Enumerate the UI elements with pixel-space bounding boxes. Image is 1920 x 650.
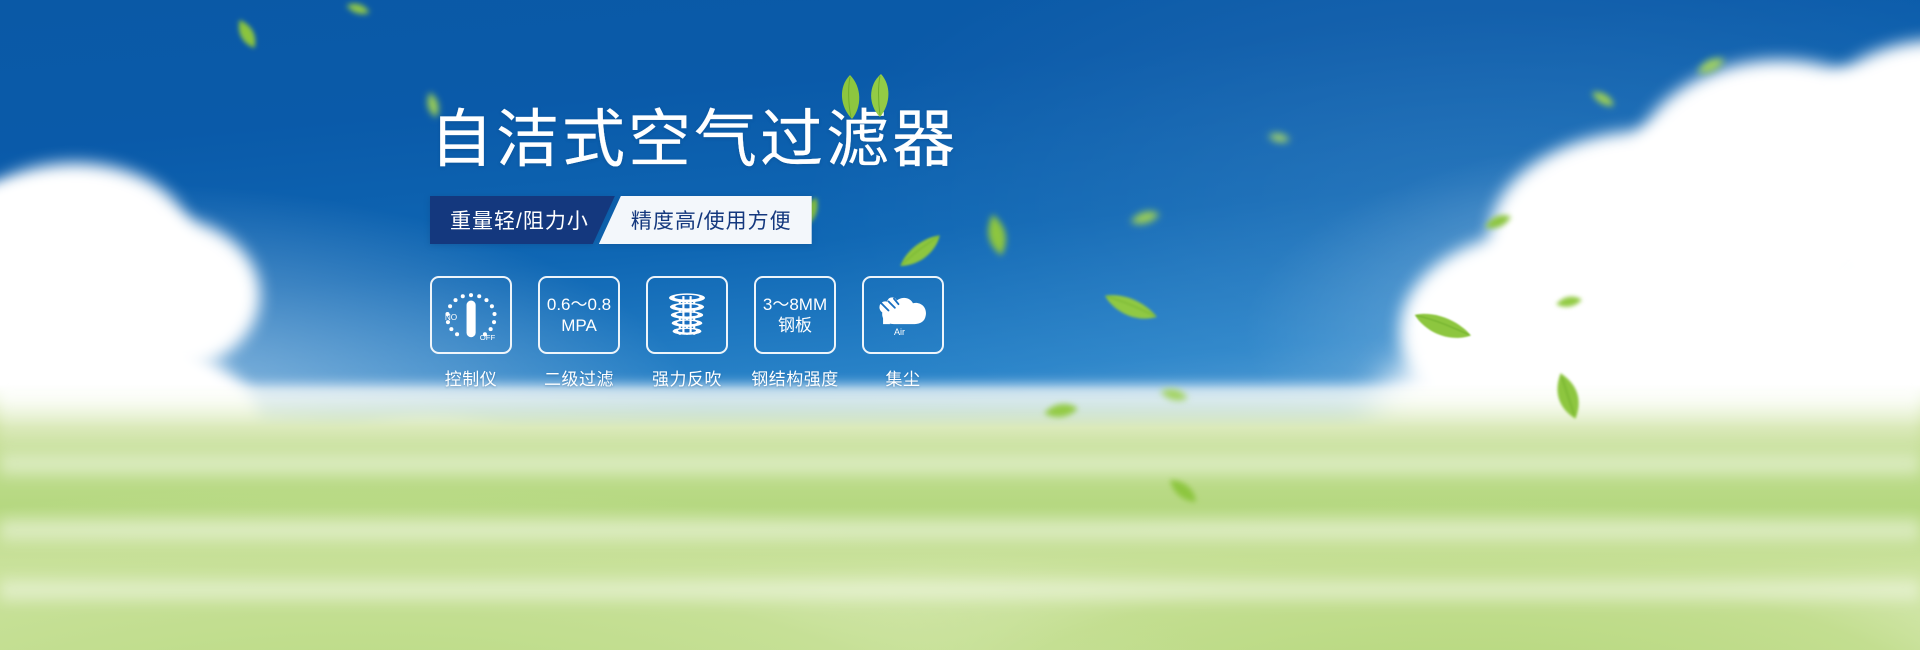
grass-field: [0, 385, 1920, 650]
feature-item[interactable]: 0.6～0.8 MPA 二级过滤: [538, 276, 620, 390]
gauge-dial-icon: NO OFF: [430, 276, 512, 354]
feature-caption: 集尘: [886, 365, 921, 390]
leaf-icon: [1587, 84, 1619, 113]
leaf-icon: [1555, 292, 1583, 312]
feature-caption: 二级过滤: [544, 365, 614, 390]
feature-item[interactable]: 强力反吹: [646, 276, 728, 390]
feature-icon-row: NO OFF 控制仪 0.6～0.8 MPA 二级过滤: [430, 276, 1190, 390]
feature-item[interactable]: NO OFF 控制仪: [430, 276, 512, 390]
svg-text:OFF: OFF: [480, 333, 496, 342]
air-cloud-icon: Air: [862, 276, 944, 354]
grass-light-streak-3: [0, 573, 1920, 607]
tagline-badge-secondary: 精度高/使用方便: [599, 196, 812, 244]
leaf-icon: [1408, 299, 1477, 354]
leaf-icon: [1693, 50, 1729, 81]
leaf-icon: [344, 0, 372, 21]
tagline-badge-primary: 重量轻/阻力小: [430, 196, 615, 244]
pressure-text-icon: 0.6～0.8 MPA: [538, 276, 620, 354]
tagline-badges: 重量轻/阻力小 精度高/使用方便: [430, 196, 823, 244]
leaf-icon: [1267, 128, 1292, 148]
feature-caption: 强力反吹: [652, 365, 722, 390]
leaf-icon: [1481, 207, 1514, 236]
page-title: 自洁式空气过滤器: [430, 105, 1190, 175]
steel-plate-text-icon: 3～8MM 钢板: [754, 276, 836, 354]
air-label: Air: [894, 327, 905, 337]
feature-item[interactable]: Air 集尘: [862, 276, 944, 390]
banner-content: 自洁式空气过滤器 重量轻/阻力小 精度高/使用方便: [430, 105, 1190, 390]
feature-item[interactable]: 3～8MM 钢板 钢结构强度: [754, 276, 836, 390]
feature-caption: 钢结构强度: [751, 365, 839, 390]
feature-text-line2: 钢板: [778, 315, 812, 336]
feature-text-line1: 3～8MM: [763, 294, 827, 315]
title-row: 自洁式空气过滤器: [430, 105, 1190, 181]
leaf-icon: [230, 15, 264, 54]
filter-stack-icon: [646, 276, 728, 354]
feature-text-line1: 0.6～0.8: [547, 294, 611, 315]
feature-text-line2: MPA: [561, 315, 597, 336]
feature-caption: 控制仪: [445, 365, 498, 390]
grass-horizon-haze: [0, 385, 1920, 455]
grass-hill-shading: [0, 400, 1920, 650]
grass-light-streak-2: [0, 513, 1920, 547]
grass-light-streak-1: [0, 447, 1920, 481]
two-leaves-icon: [834, 73, 896, 119]
svg-text:NO: NO: [445, 313, 457, 322]
promo-banner: 自洁式空气过滤器 重量轻/阻力小 精度高/使用方便: [0, 0, 1920, 650]
